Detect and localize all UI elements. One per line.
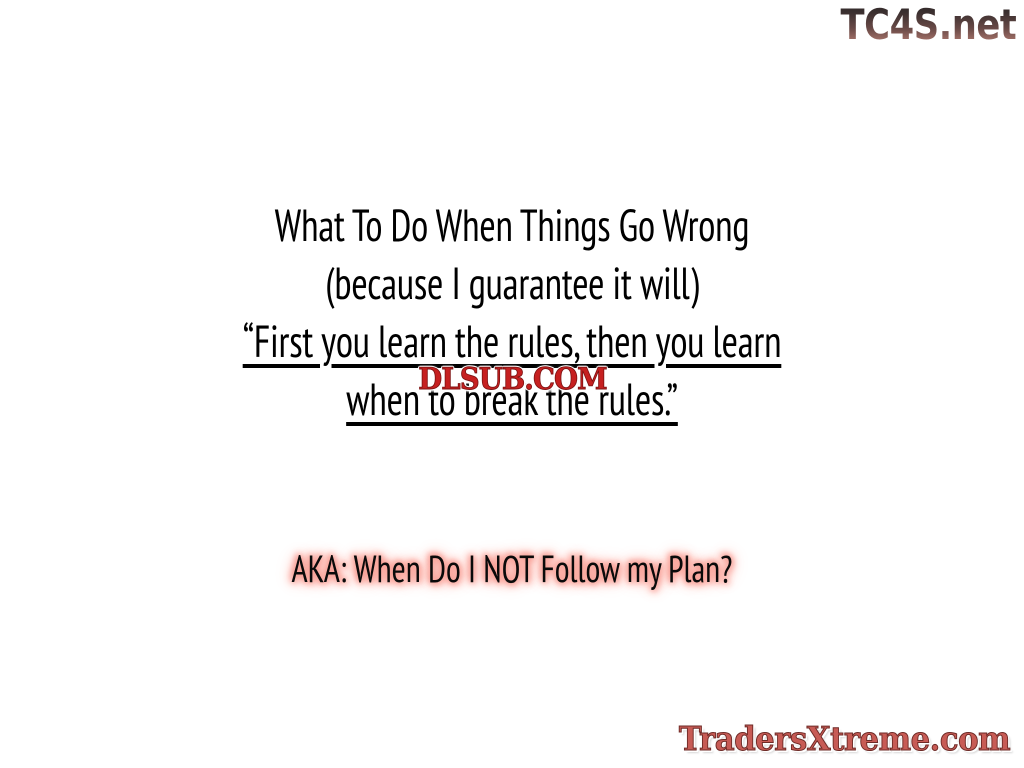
quote-line-2: when to break the rules.” xyxy=(61,370,962,428)
title-line-2: (because I guarantee it will) xyxy=(61,254,962,312)
title-line-1: What To Do When Things Go Wrong xyxy=(61,196,962,254)
quote-line-1: “First you learn the rules, then you lea… xyxy=(61,312,962,370)
brand-logo-tc4s: TC4S.net xyxy=(840,2,1016,48)
aka-subtitle: AKA: When Do I NOT Follow my Plan? xyxy=(0,545,1024,593)
presentation-slide: TC4S.net What To Do When Things Go Wrong… xyxy=(0,0,1024,768)
slide-body-text: What To Do When Things Go Wrong (because… xyxy=(0,196,1024,428)
brand-logo-tradersxtreme: TradersXtreme.com xyxy=(679,720,1010,758)
aka-subtitle-text: AKA: When Do I NOT Follow my Plan? xyxy=(292,545,733,593)
